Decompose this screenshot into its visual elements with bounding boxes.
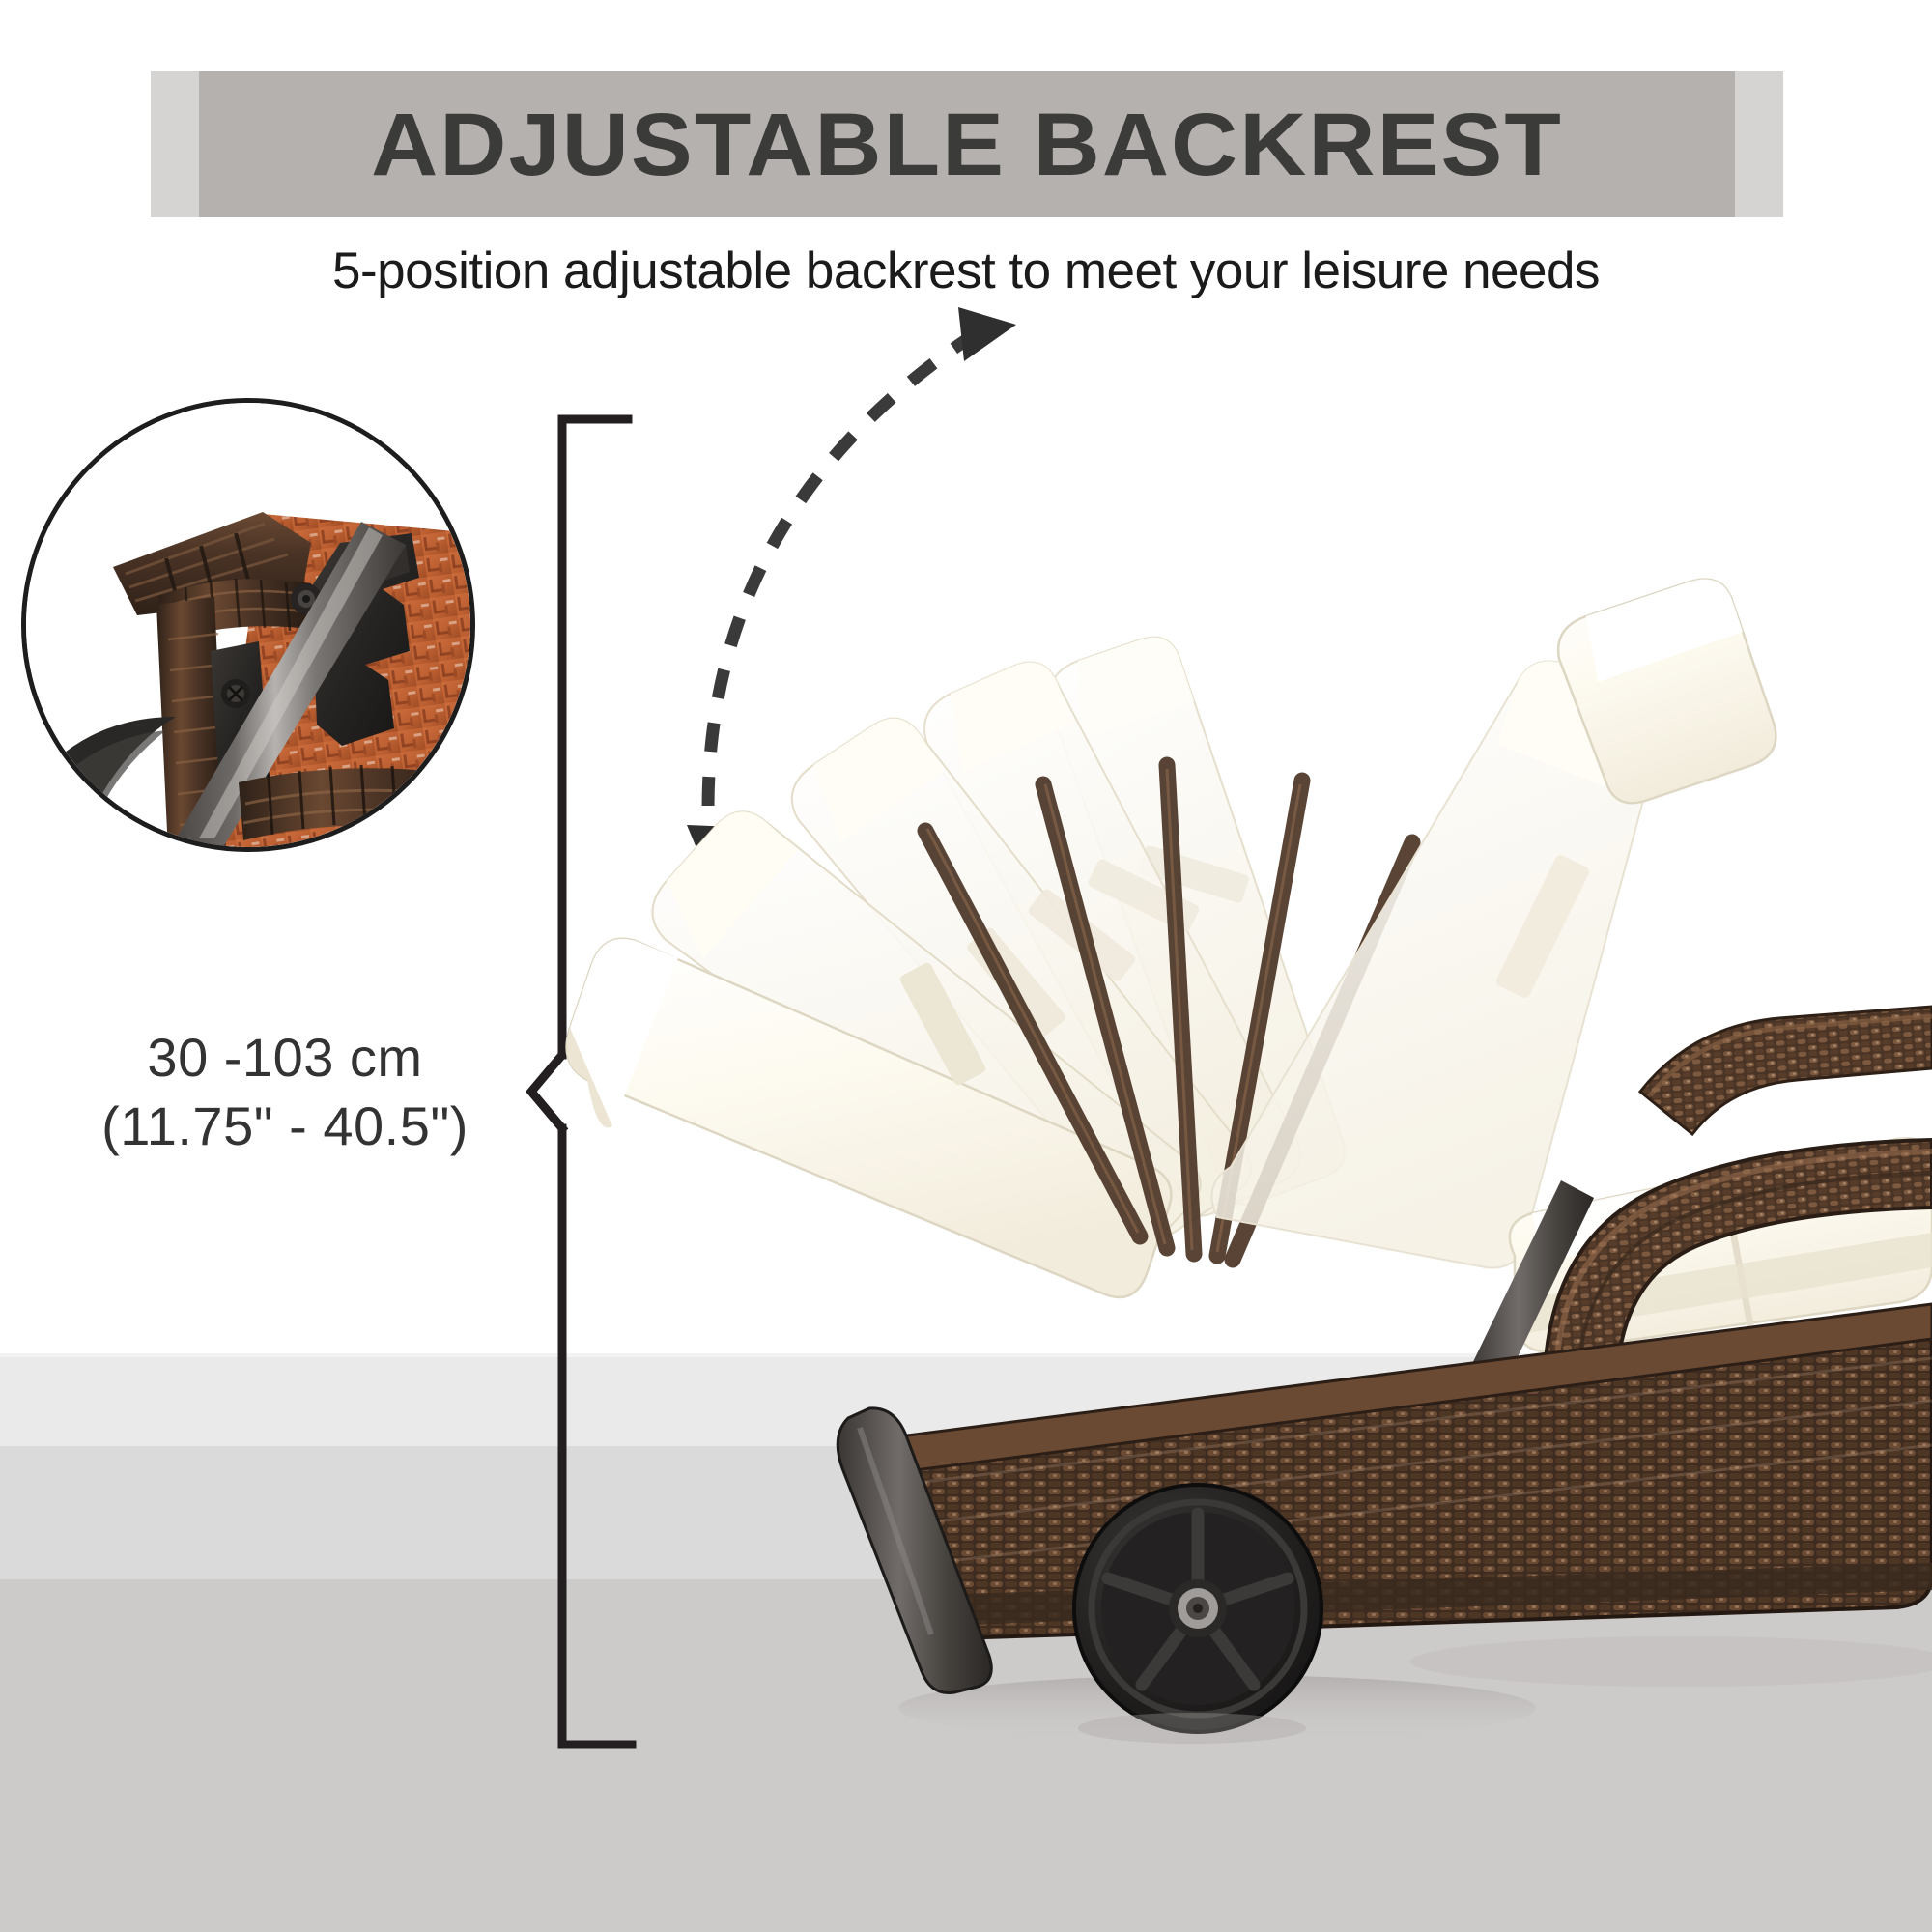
dimension-metric: 30 -103 cm bbox=[147, 1027, 422, 1088]
armrest-upper bbox=[1640, 1007, 1932, 1134]
page-title: ADJUSTABLE BACKREST bbox=[168, 71, 1766, 217]
backrest-cushion-current bbox=[1211, 580, 1776, 1268]
detail-inset-circle bbox=[21, 398, 475, 852]
title-banner: ADJUSTABLE BACKREST bbox=[151, 71, 1783, 217]
rattan-rail-lower bbox=[239, 765, 475, 840]
dimension-label: 30 -103 cm (11.75" - 40.5") bbox=[53, 1024, 517, 1160]
base-shadow bbox=[1410, 1636, 1932, 1687]
product-illustration bbox=[541, 290, 1932, 1797]
wheel-contact-shadow bbox=[1078, 1713, 1306, 1744]
arrow-head-top-icon bbox=[958, 307, 1016, 361]
product-feature-image: ADJUSTABLE BACKREST 5-position adjustabl… bbox=[0, 0, 1932, 1932]
dimension-imperial: (11.75" - 40.5") bbox=[53, 1093, 517, 1161]
detail-inset-artwork bbox=[21, 398, 475, 852]
lounger-base-body bbox=[877, 1304, 1932, 1638]
